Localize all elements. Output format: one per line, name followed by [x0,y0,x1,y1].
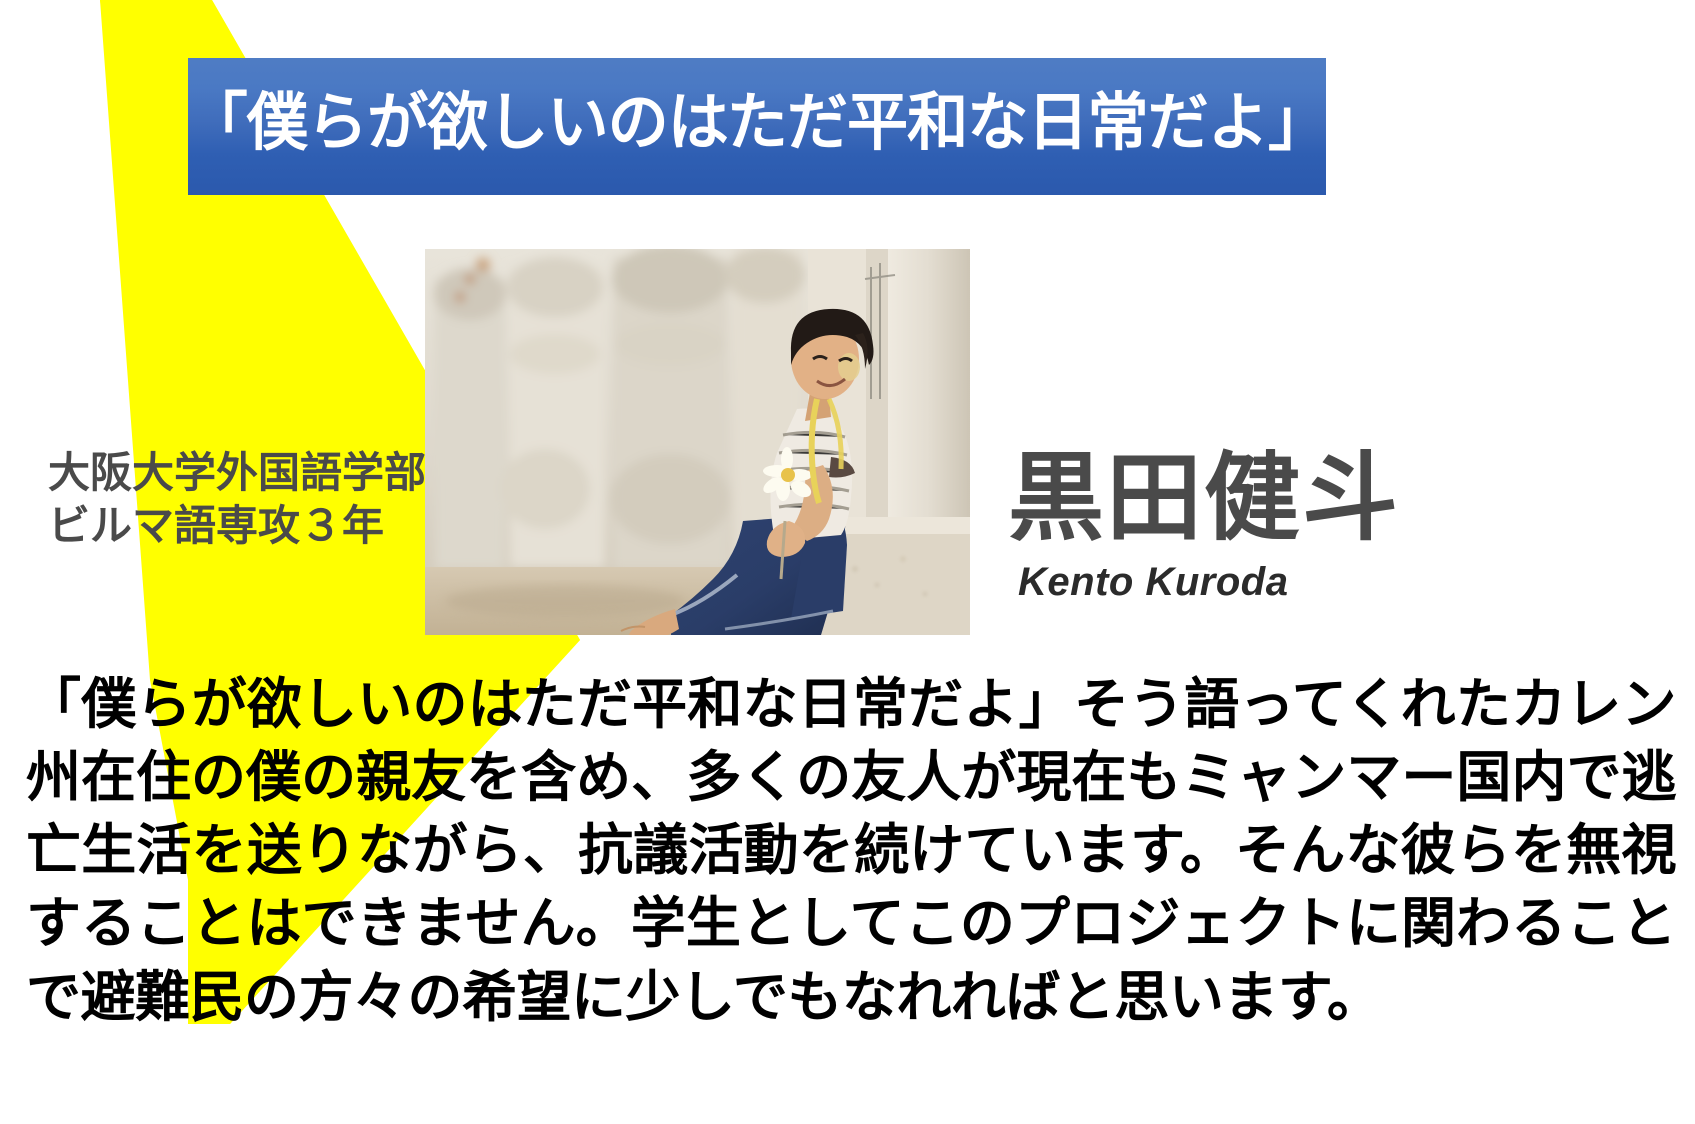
affiliation-line-2: ビルマ語専攻３年 [48,500,426,553]
slide-canvas: 「僕らが欲しいのはただ平和な日常だよ」 [0,0,1695,1124]
name-romanized: Kento Kuroda [1018,560,1400,605]
profile-photo [425,249,970,635]
name-block: 黒田健斗 Kento Kuroda [1008,449,1400,605]
body-paragraph: 「僕らが欲しいのはただ平和な日常だよ」そう語ってくれたカレン州在住の僕の親友を含… [26,668,1676,1034]
title-text: 「僕らが欲しいのはただ平和な日常だよ」 [186,92,1327,161]
affiliation-line-1: 大阪大学外国語学部 [48,447,426,500]
title-banner: 「僕らが欲しいのはただ平和な日常だよ」 [188,58,1326,195]
name-japanese: 黒田健斗 [1008,449,1400,550]
photo-illustration [425,249,970,635]
affiliation-block: 大阪大学外国語学部 ビルマ語専攻３年 [48,447,426,553]
